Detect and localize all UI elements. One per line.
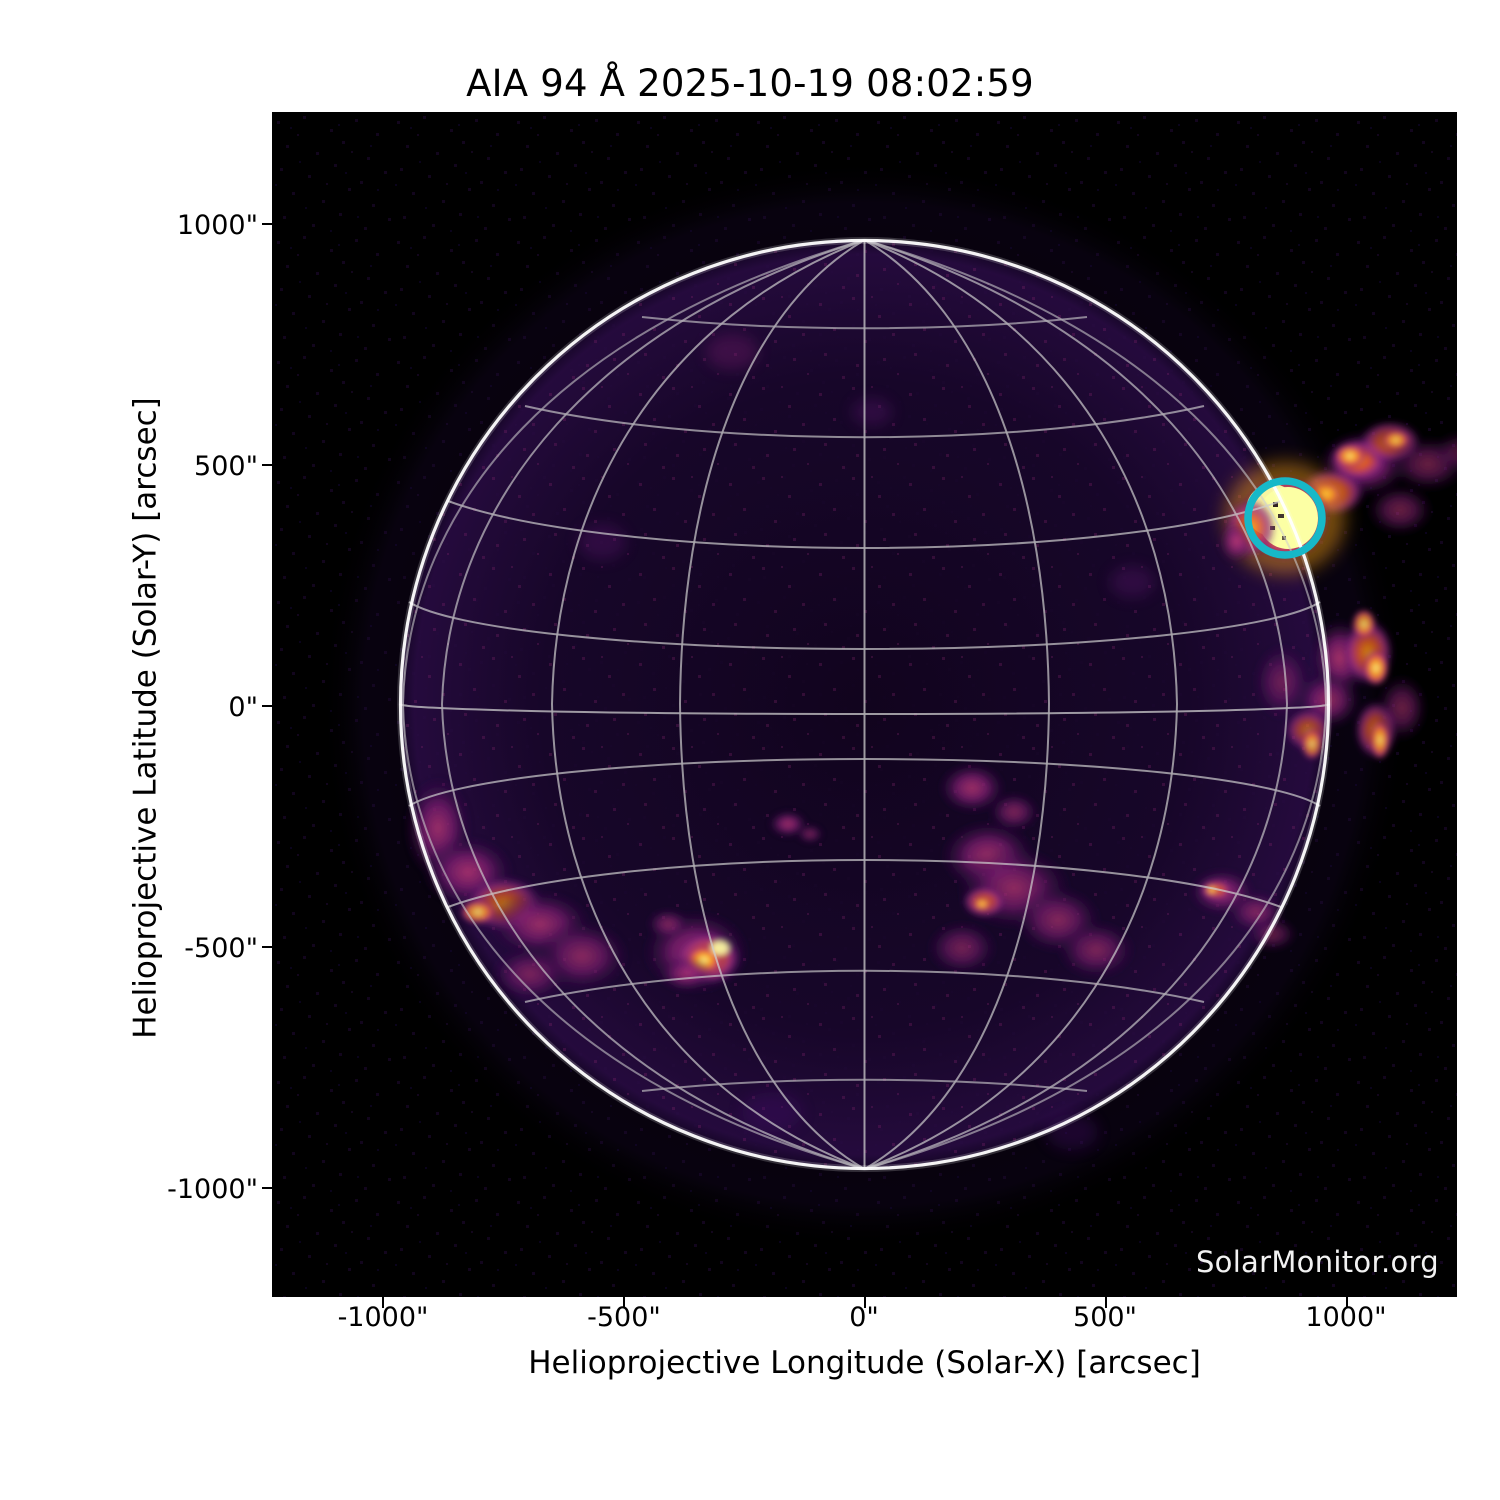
ytick-mark-m1000 — [262, 1187, 273, 1189]
solar-disk-image — [272, 112, 1457, 1297]
xtick-mark-1000 — [1346, 1297, 1348, 1308]
watermark: SolarMonitor.org — [1196, 1245, 1439, 1279]
y-axis-title: Helioprojective Latitude (Solar-Y) [arcs… — [128, 126, 164, 1311]
solar-image-figure: AIA 94 Å 2025-10-19 08:02:59 — [0, 0, 1500, 1500]
x-axis-title: Helioprojective Longitude (Solar-X) [arc… — [272, 1345, 1457, 1381]
xtick-mark-0 — [864, 1297, 866, 1308]
xtick-mark-m500 — [623, 1297, 625, 1308]
xtick-mark-m1000 — [382, 1297, 384, 1308]
xtick-mark-500 — [1105, 1297, 1107, 1308]
ytick-mark-0 — [262, 705, 273, 707]
ytick-mark-500 — [262, 464, 273, 466]
plot-area[interactable]: SolarMonitor.org — [272, 112, 1457, 1297]
ytick-mark-m500 — [262, 946, 273, 948]
page-title: AIA 94 Å 2025-10-19 08:02:59 — [0, 62, 1500, 105]
ytick-mark-1000 — [262, 223, 273, 225]
